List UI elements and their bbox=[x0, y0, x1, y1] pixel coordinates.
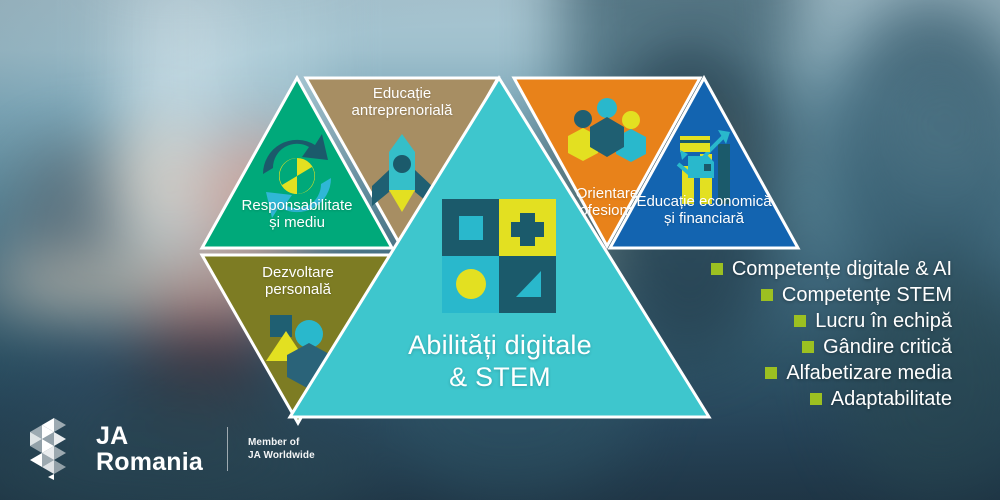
skill-label: Competențe STEM bbox=[782, 285, 952, 305]
skill-label: Gândire critică bbox=[823, 337, 952, 357]
skill-item: Competențe STEM bbox=[600, 282, 952, 308]
skill-item: Gândire critică bbox=[600, 334, 952, 360]
skill-label: Competențe digitale & AI bbox=[732, 259, 952, 279]
bullet-square-icon bbox=[802, 341, 814, 353]
skill-item: Adaptabilitate bbox=[600, 386, 952, 412]
ja-romania-logo: JA Romania Member of JA Worldwide bbox=[24, 418, 315, 480]
four-squares-grid-icon bbox=[442, 199, 556, 313]
skill-item: Competențe digitale & AI bbox=[600, 256, 952, 282]
skill-label: Adaptabilitate bbox=[831, 389, 952, 409]
skill-label: Lucru în echipă bbox=[815, 311, 952, 331]
bullet-square-icon bbox=[810, 393, 822, 405]
skill-item: Lucru în echipă bbox=[600, 308, 952, 334]
skill-item: Alfabetizare media bbox=[600, 360, 952, 386]
bullet-square-icon bbox=[711, 263, 723, 275]
ja-triangles-logo-mark bbox=[24, 418, 82, 480]
logo-member-of: Member of JA Worldwide bbox=[248, 436, 315, 463]
bullet-square-icon bbox=[761, 289, 773, 301]
logo-wordmark: JA Romania bbox=[96, 423, 203, 475]
bullet-square-icon bbox=[794, 315, 806, 327]
skill-label: Alfabetizare media bbox=[786, 363, 952, 383]
skills-list: Competențe digitale & AI Competențe STEM… bbox=[600, 256, 952, 412]
bullet-square-icon bbox=[765, 367, 777, 379]
logo-divider bbox=[227, 427, 228, 471]
infographic-canvas: Educație antreprenorială Responsabilitat… bbox=[0, 0, 1000, 500]
